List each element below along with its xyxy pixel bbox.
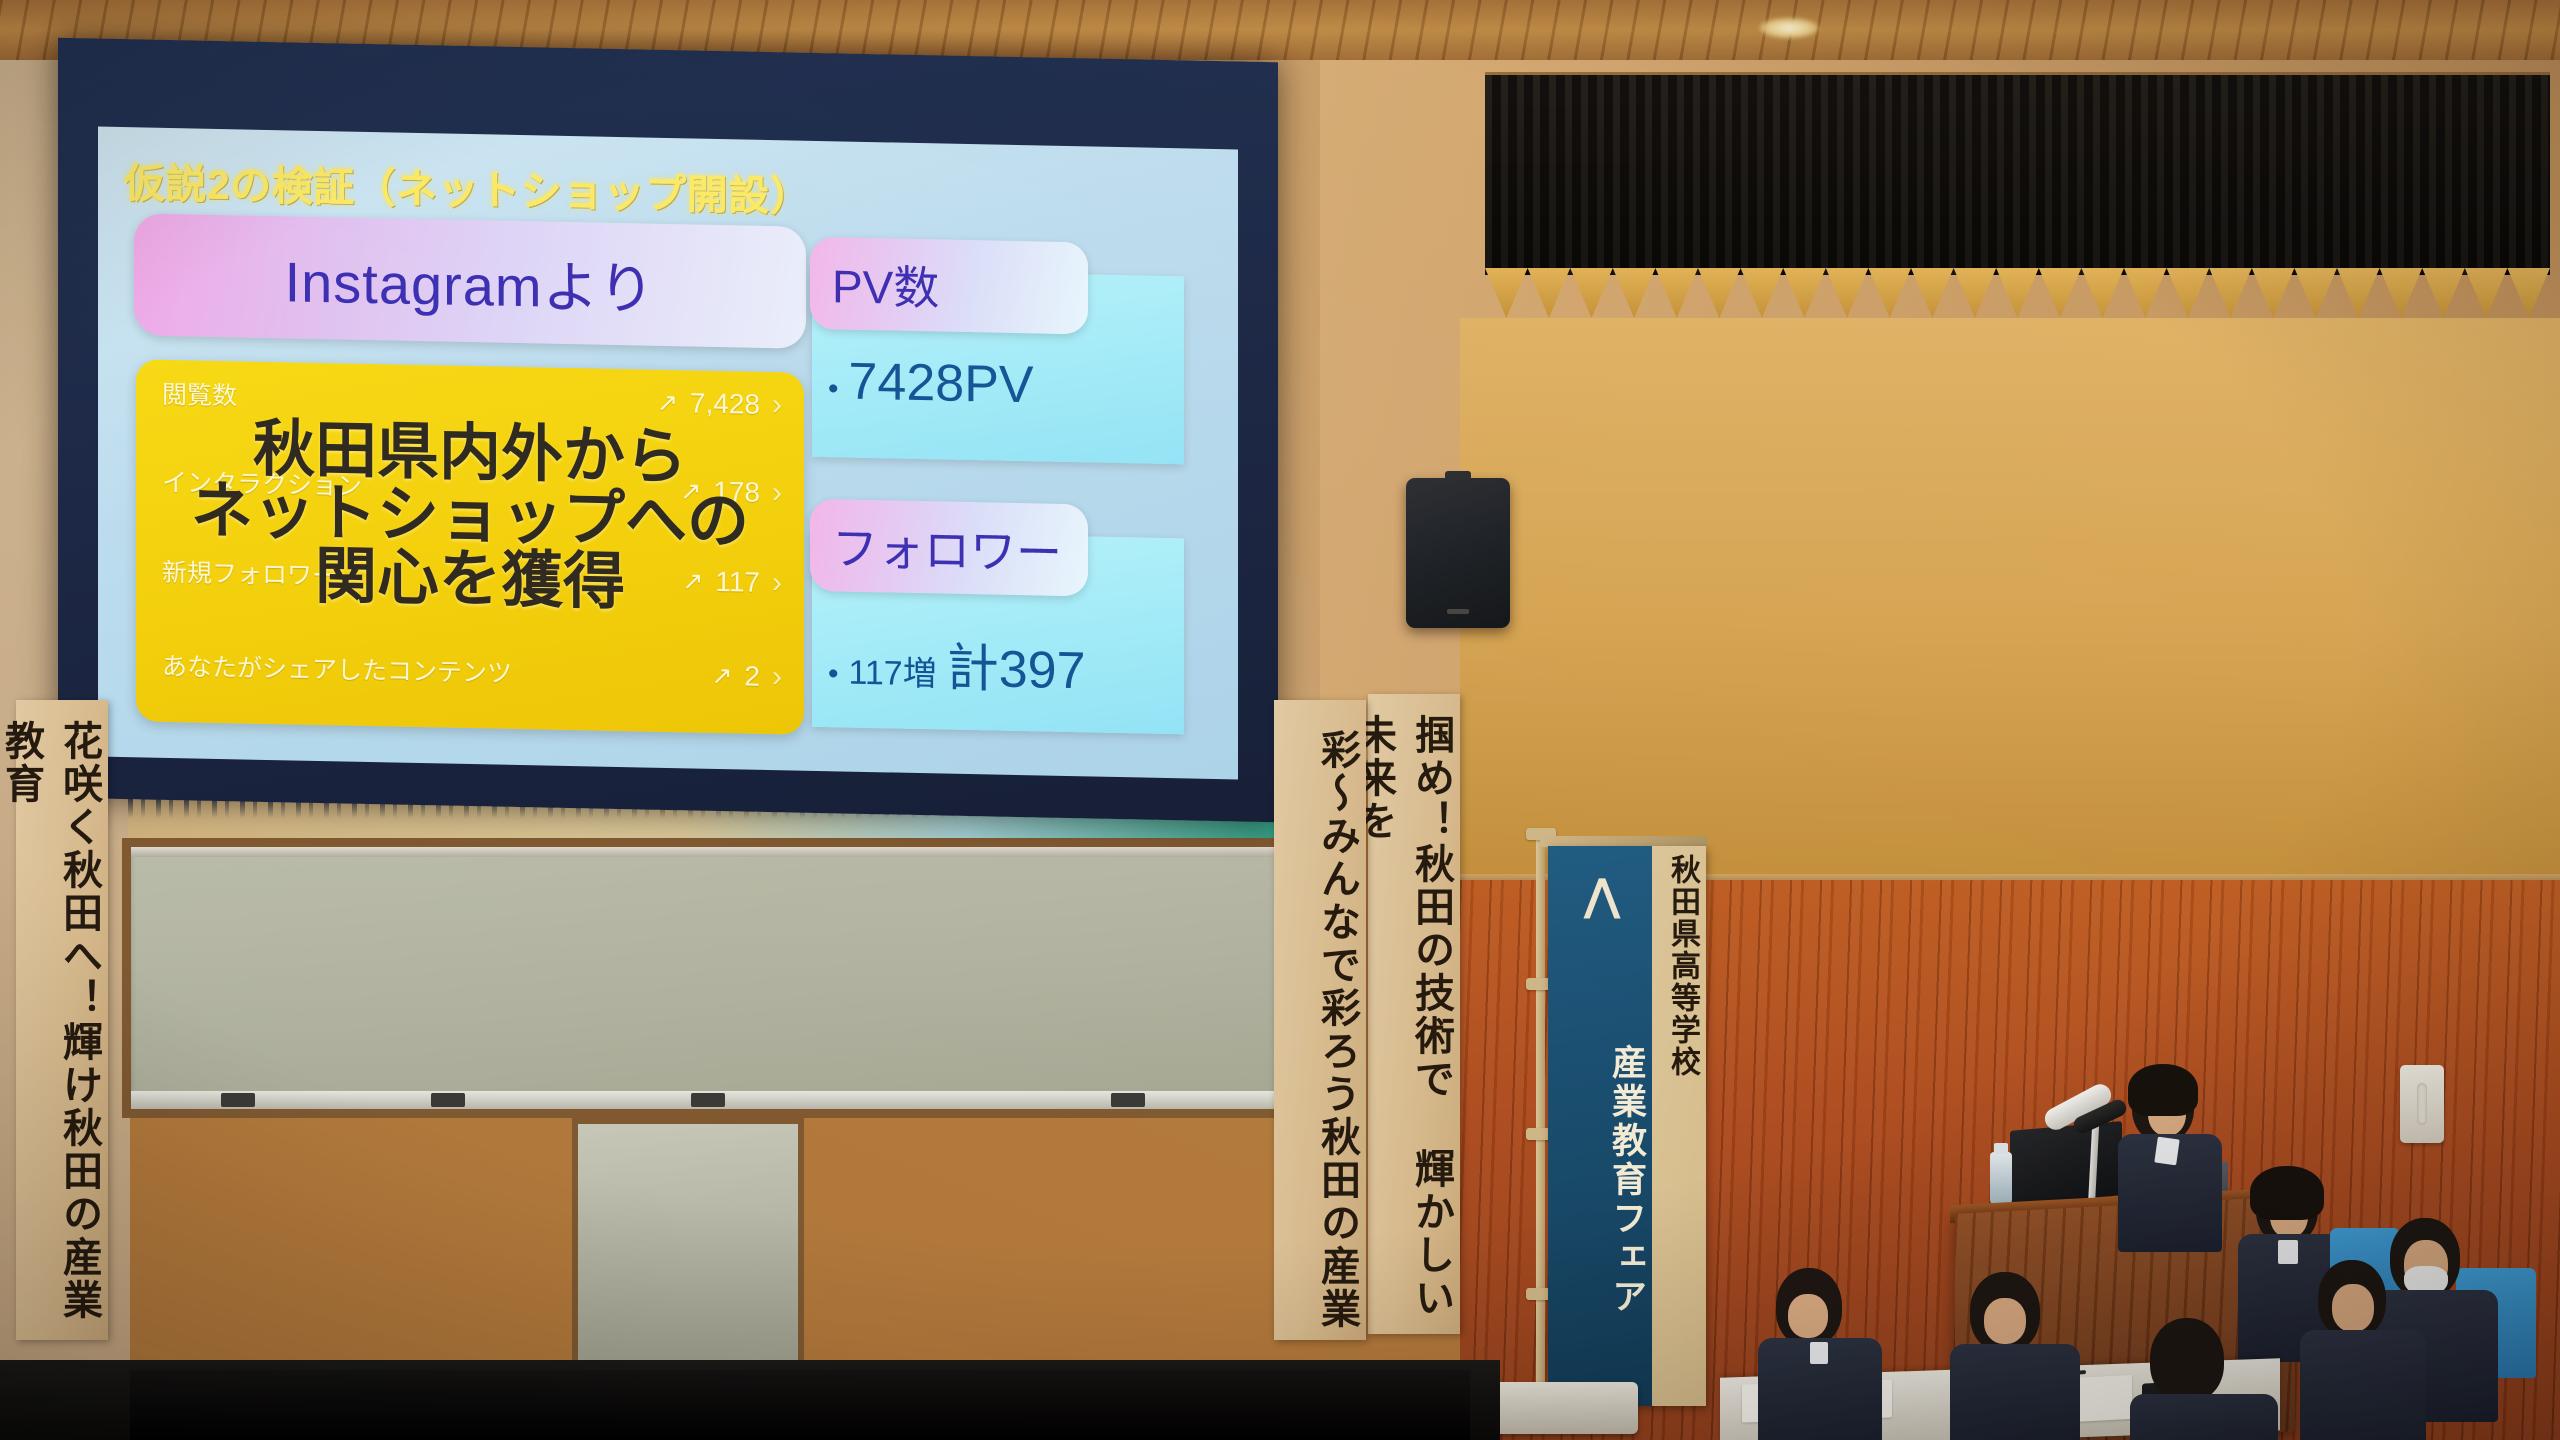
follower-increase: 117増 (849, 645, 937, 696)
pv-card-title: PV数 (832, 250, 939, 318)
student3-face (2332, 1284, 2374, 1332)
stat-row[interactable]: 新規フォロワー ↗ 117 › (136, 547, 804, 606)
stat-value: 2 (744, 661, 760, 693)
stat-row[interactable]: インタラクション ↗ 178 › (136, 457, 804, 516)
presenter-student (2110, 1068, 2230, 1248)
nobori-organization-text: 秋田県高等学校 (1656, 854, 1704, 1164)
nobori-event-text: 産業教育フェア (1548, 846, 1652, 1406)
follower-card-title: フォロワー (832, 512, 1062, 583)
stat-label: 新規フォロワー (162, 553, 337, 593)
auditorium-photo: 仮説2の検証（ネットショップ開設） Instagramより 閲覧数 ↗ 7,42… (0, 0, 2560, 1440)
presentation-slide: 仮説2の検証（ネットショップ開設） Instagramより 閲覧数 ↗ 7,42… (98, 127, 1238, 780)
trend-up-icon: ↗ (680, 476, 701, 506)
ceiling-light-icon (1760, 18, 1818, 38)
student1-hair (2250, 1166, 2324, 1220)
front3-head (2150, 1318, 2224, 1402)
instagram-source-label: Instagramより (285, 237, 656, 325)
bullet-icon: • (828, 659, 839, 689)
follower-total: 計397 (947, 626, 1086, 704)
floor-cabinet (572, 1118, 804, 1368)
wall-speaker-icon (1406, 478, 1510, 628)
presenter-hair (2128, 1064, 2198, 1116)
stat-value: 7,428 (690, 387, 760, 420)
pv-card-header: PV数 (810, 237, 1088, 335)
stat-value: 178 (713, 476, 760, 509)
trend-up-icon: ↗ (657, 388, 678, 418)
slide-title: 仮説2の検証（ネットショップ開設） (124, 149, 811, 223)
front2-collar (1810, 1342, 1828, 1364)
front-row-student-1 (1950, 1272, 2082, 1440)
stat-label: あなたがシェアしたコンテンツ (162, 647, 512, 690)
seated-student-3 (2300, 1260, 2430, 1440)
instagram-source-pill: Instagramより (134, 213, 806, 348)
pv-value: 7428PV (849, 352, 1034, 416)
light-switch-plate[interactable] (2400, 1065, 2444, 1143)
whiteboard (122, 838, 1290, 1118)
presenter-collar (2154, 1137, 2179, 1166)
podium-monitor (2010, 1121, 2122, 1205)
chevron-right-icon: › (772, 388, 782, 422)
water-bottle (1990, 1152, 2012, 1204)
banner-center-right-2: 彩〜みんなで彩ろう秋田の産業 (1274, 700, 1366, 1340)
front1-face (1984, 1298, 2026, 1344)
projection-screen: 仮説2の検証（ネットショップ開設） Instagramより 閲覧数 ↗ 7,42… (58, 38, 1278, 822)
stat-row[interactable]: あなたがシェアしたコンテンツ ↗ 2 › (136, 641, 804, 700)
stage-front-edge (130, 1370, 1470, 1440)
follower-card: フォロワー • 117増 計397 (812, 531, 1184, 734)
bullet-icon: • (828, 374, 839, 404)
nobori-flag: 産業教育フェア ⋀ 秋田県高等学校 (1548, 846, 1706, 1406)
front-row-student-3 (2130, 1318, 2280, 1440)
pv-card: PV数 • 7428PV (812, 269, 1184, 464)
nobori-logo-icon: ⋀ (1574, 870, 1630, 922)
stat-value: 117 (715, 566, 760, 599)
pv-card-body: • 7428PV (828, 351, 1034, 415)
trend-up-icon: ↗ (682, 566, 703, 596)
follower-card-body: • 117増 計397 (828, 623, 1086, 703)
chevron-right-icon: › (772, 566, 782, 600)
stage-curtain (1485, 72, 2550, 275)
banner-left: 花咲く秋田へ！輝け秋田の産業教育 (16, 700, 108, 1340)
chevron-right-icon: › (772, 476, 782, 510)
front-row-student-2 (1758, 1268, 1884, 1440)
student3-body (2300, 1330, 2426, 1440)
stat-label: 閲覧数 (162, 375, 237, 413)
instagram-insights-card: 閲覧数 ↗ 7,428 › インタラクション ↗ 178 › (136, 359, 804, 734)
follower-card-header: フォロワー (810, 499, 1088, 597)
front3-body (2130, 1394, 2278, 1440)
front2-face (1788, 1294, 1828, 1338)
whiteboard-top-rail (131, 847, 1281, 857)
nobori-pole (1536, 828, 1545, 1428)
trend-up-icon: ↗ (711, 661, 732, 691)
right-wall-mid (1460, 318, 2560, 878)
front1-body (1950, 1344, 2080, 1440)
chevron-right-icon: › (772, 660, 782, 694)
nobori-base (1488, 1382, 1638, 1434)
banner-center-right: 掴め！秋田の技術で 輝かしい未来を (1368, 694, 1460, 1334)
stat-label: インタラクション (162, 463, 362, 503)
whiteboard-chalk-tray (131, 1091, 1281, 1109)
student1-collar (2278, 1240, 2298, 1264)
stat-row[interactable]: 閲覧数 ↗ 7,428 › (136, 369, 804, 428)
